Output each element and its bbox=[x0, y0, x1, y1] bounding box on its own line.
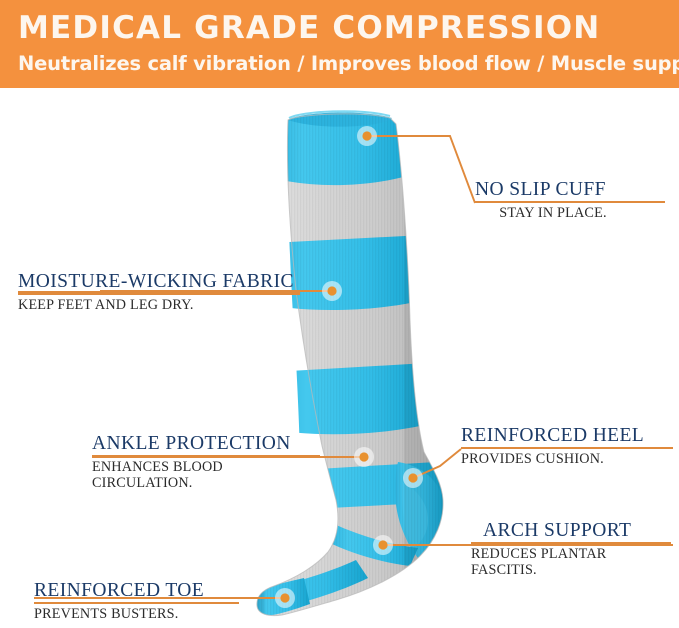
callout-moisture-wicking-fabric: MOISTURE-WICKING FABRIC KEEP FEET AND LE… bbox=[18, 270, 300, 313]
callout-title: ANKLE PROTECTION bbox=[92, 432, 320, 455]
callout-title: MOISTURE-WICKING FABRIC bbox=[18, 270, 300, 293]
cuff-rim bbox=[288, 111, 392, 126]
callout-subtitle: KEEP FEET AND LEG DRY. bbox=[18, 297, 300, 314]
callout-dots bbox=[275, 126, 423, 608]
callout-ankle-protection: ANKLE PROTECTION ENHANCES BLOOD CIRCULAT… bbox=[92, 432, 320, 492]
header-banner: MEDICAL GRADE COMPRESSION Neutralizes ca… bbox=[0, 0, 679, 88]
ankle-band bbox=[300, 462, 443, 508]
callout-arch-support: ARCH SUPPORT REDUCES PLANTAR FASCITIS. bbox=[471, 519, 671, 579]
callout-subtitle: PREVENTS BUSTERS. bbox=[34, 606, 239, 623]
callout-title: REINFORCED TOE bbox=[34, 579, 239, 602]
foot-stripes bbox=[257, 524, 418, 611]
callout-title: ARCH SUPPORT bbox=[471, 519, 671, 542]
sock-body bbox=[240, 100, 474, 628]
infographic-page: MEDICAL GRADE COMPRESSION Neutralizes ca… bbox=[0, 0, 679, 628]
callout-subtitle-line1: REDUCES PLANTAR bbox=[471, 546, 671, 563]
sock-shading bbox=[240, 100, 474, 628]
heel-patch bbox=[395, 462, 443, 558]
dot-ankle-protection bbox=[354, 447, 374, 467]
callout-subtitle-line2: CIRCULATION. bbox=[92, 475, 320, 492]
connector-no-slip-cuff bbox=[367, 136, 475, 203]
toe-cap bbox=[256, 578, 310, 616]
callout-rule bbox=[471, 542, 671, 544]
callout-no-slip-cuff: NO SLIP CUFF STAY IN PLACE. bbox=[475, 178, 665, 221]
dot-moisture-wicking bbox=[322, 281, 342, 301]
dot-arch-support bbox=[373, 535, 393, 555]
callout-rule bbox=[92, 455, 320, 457]
callout-title: REINFORCED HEEL bbox=[461, 424, 673, 447]
callout-subtitle-line2: FASCITIS. bbox=[471, 562, 671, 579]
callout-rule bbox=[34, 602, 239, 604]
dot-reinforced-heel bbox=[403, 468, 423, 488]
callout-rule bbox=[475, 201, 665, 203]
callout-subtitle: STAY IN PLACE. bbox=[475, 205, 665, 222]
callout-reinforced-toe: REINFORCED TOE PREVENTS BUSTERS. bbox=[34, 579, 239, 622]
connector-reinforced-heel bbox=[413, 449, 461, 478]
callout-rule bbox=[461, 447, 673, 449]
banner-subtitle: Neutralizes calf vibration / Improves bl… bbox=[18, 49, 665, 79]
knit-texture bbox=[240, 100, 470, 628]
callout-subtitle: PROVIDES CUSHION. bbox=[461, 451, 673, 468]
banner-title: MEDICAL GRADE COMPRESSION bbox=[18, 8, 665, 48]
callout-rule bbox=[18, 293, 300, 295]
callout-title: NO SLIP CUFF bbox=[475, 178, 665, 201]
callout-subtitle-line1: ENHANCES BLOOD bbox=[92, 459, 320, 476]
dot-no-slip-cuff bbox=[357, 126, 377, 146]
callout-reinforced-heel: REINFORCED HEEL PROVIDES CUSHION. bbox=[461, 424, 673, 467]
dot-reinforced-toe bbox=[275, 588, 295, 608]
